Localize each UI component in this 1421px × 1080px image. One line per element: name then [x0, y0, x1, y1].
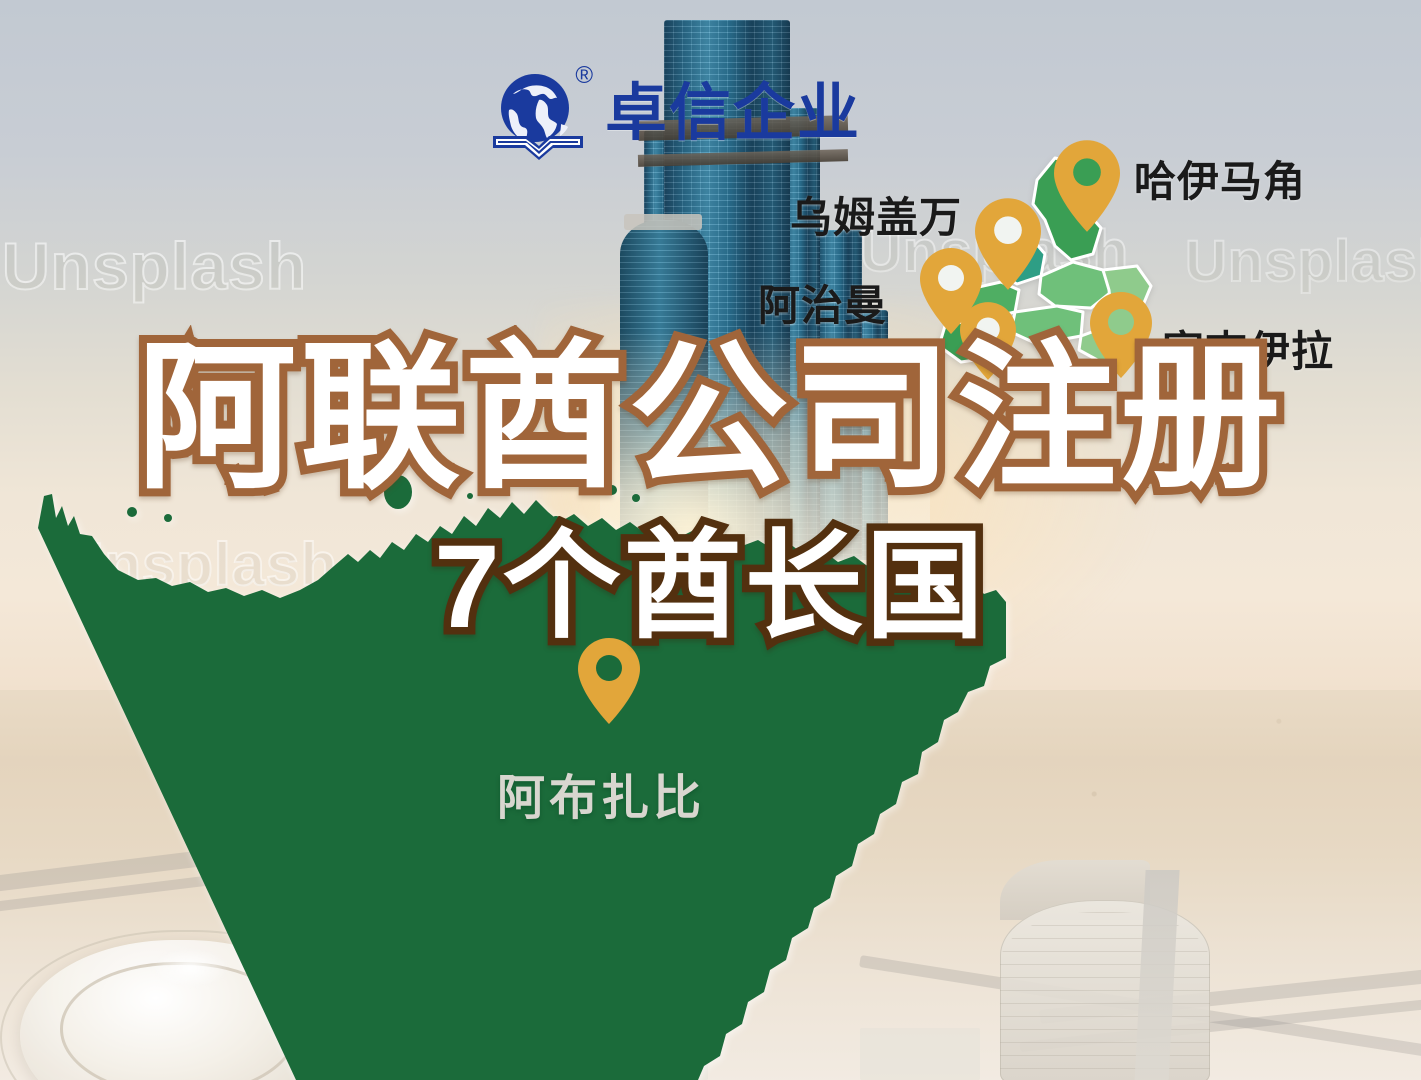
brand-logo[interactable]: ® 卓信企业 [487, 66, 861, 162]
emirate-label-ras-al-khaimah: 哈伊马角 [1134, 148, 1306, 209]
map-pin-icon [975, 198, 1041, 290]
map-pin-icon [1054, 140, 1120, 232]
brand-name: 卓信企业 [605, 83, 861, 145]
round-tower-floors [1000, 912, 1210, 1080]
page-subtitle: 7个酋长国 [0, 528, 1421, 646]
emirate-label-umm-al-quwain: 乌姆盖万 [790, 184, 962, 245]
page-title: 阿联酋公司注册 [0, 338, 1421, 498]
poster-canvas: Unsplash Unsplash Unsplash Unsplash [0, 0, 1421, 1080]
globe-logo-icon: ® [487, 66, 591, 162]
registered-trademark-icon: ® [575, 62, 593, 90]
emirate-label-abu-dhabi: 阿布扎比 [497, 758, 705, 828]
emirate-label-ajman: 阿治曼 [758, 272, 887, 333]
tower-annex-roof [624, 214, 702, 230]
